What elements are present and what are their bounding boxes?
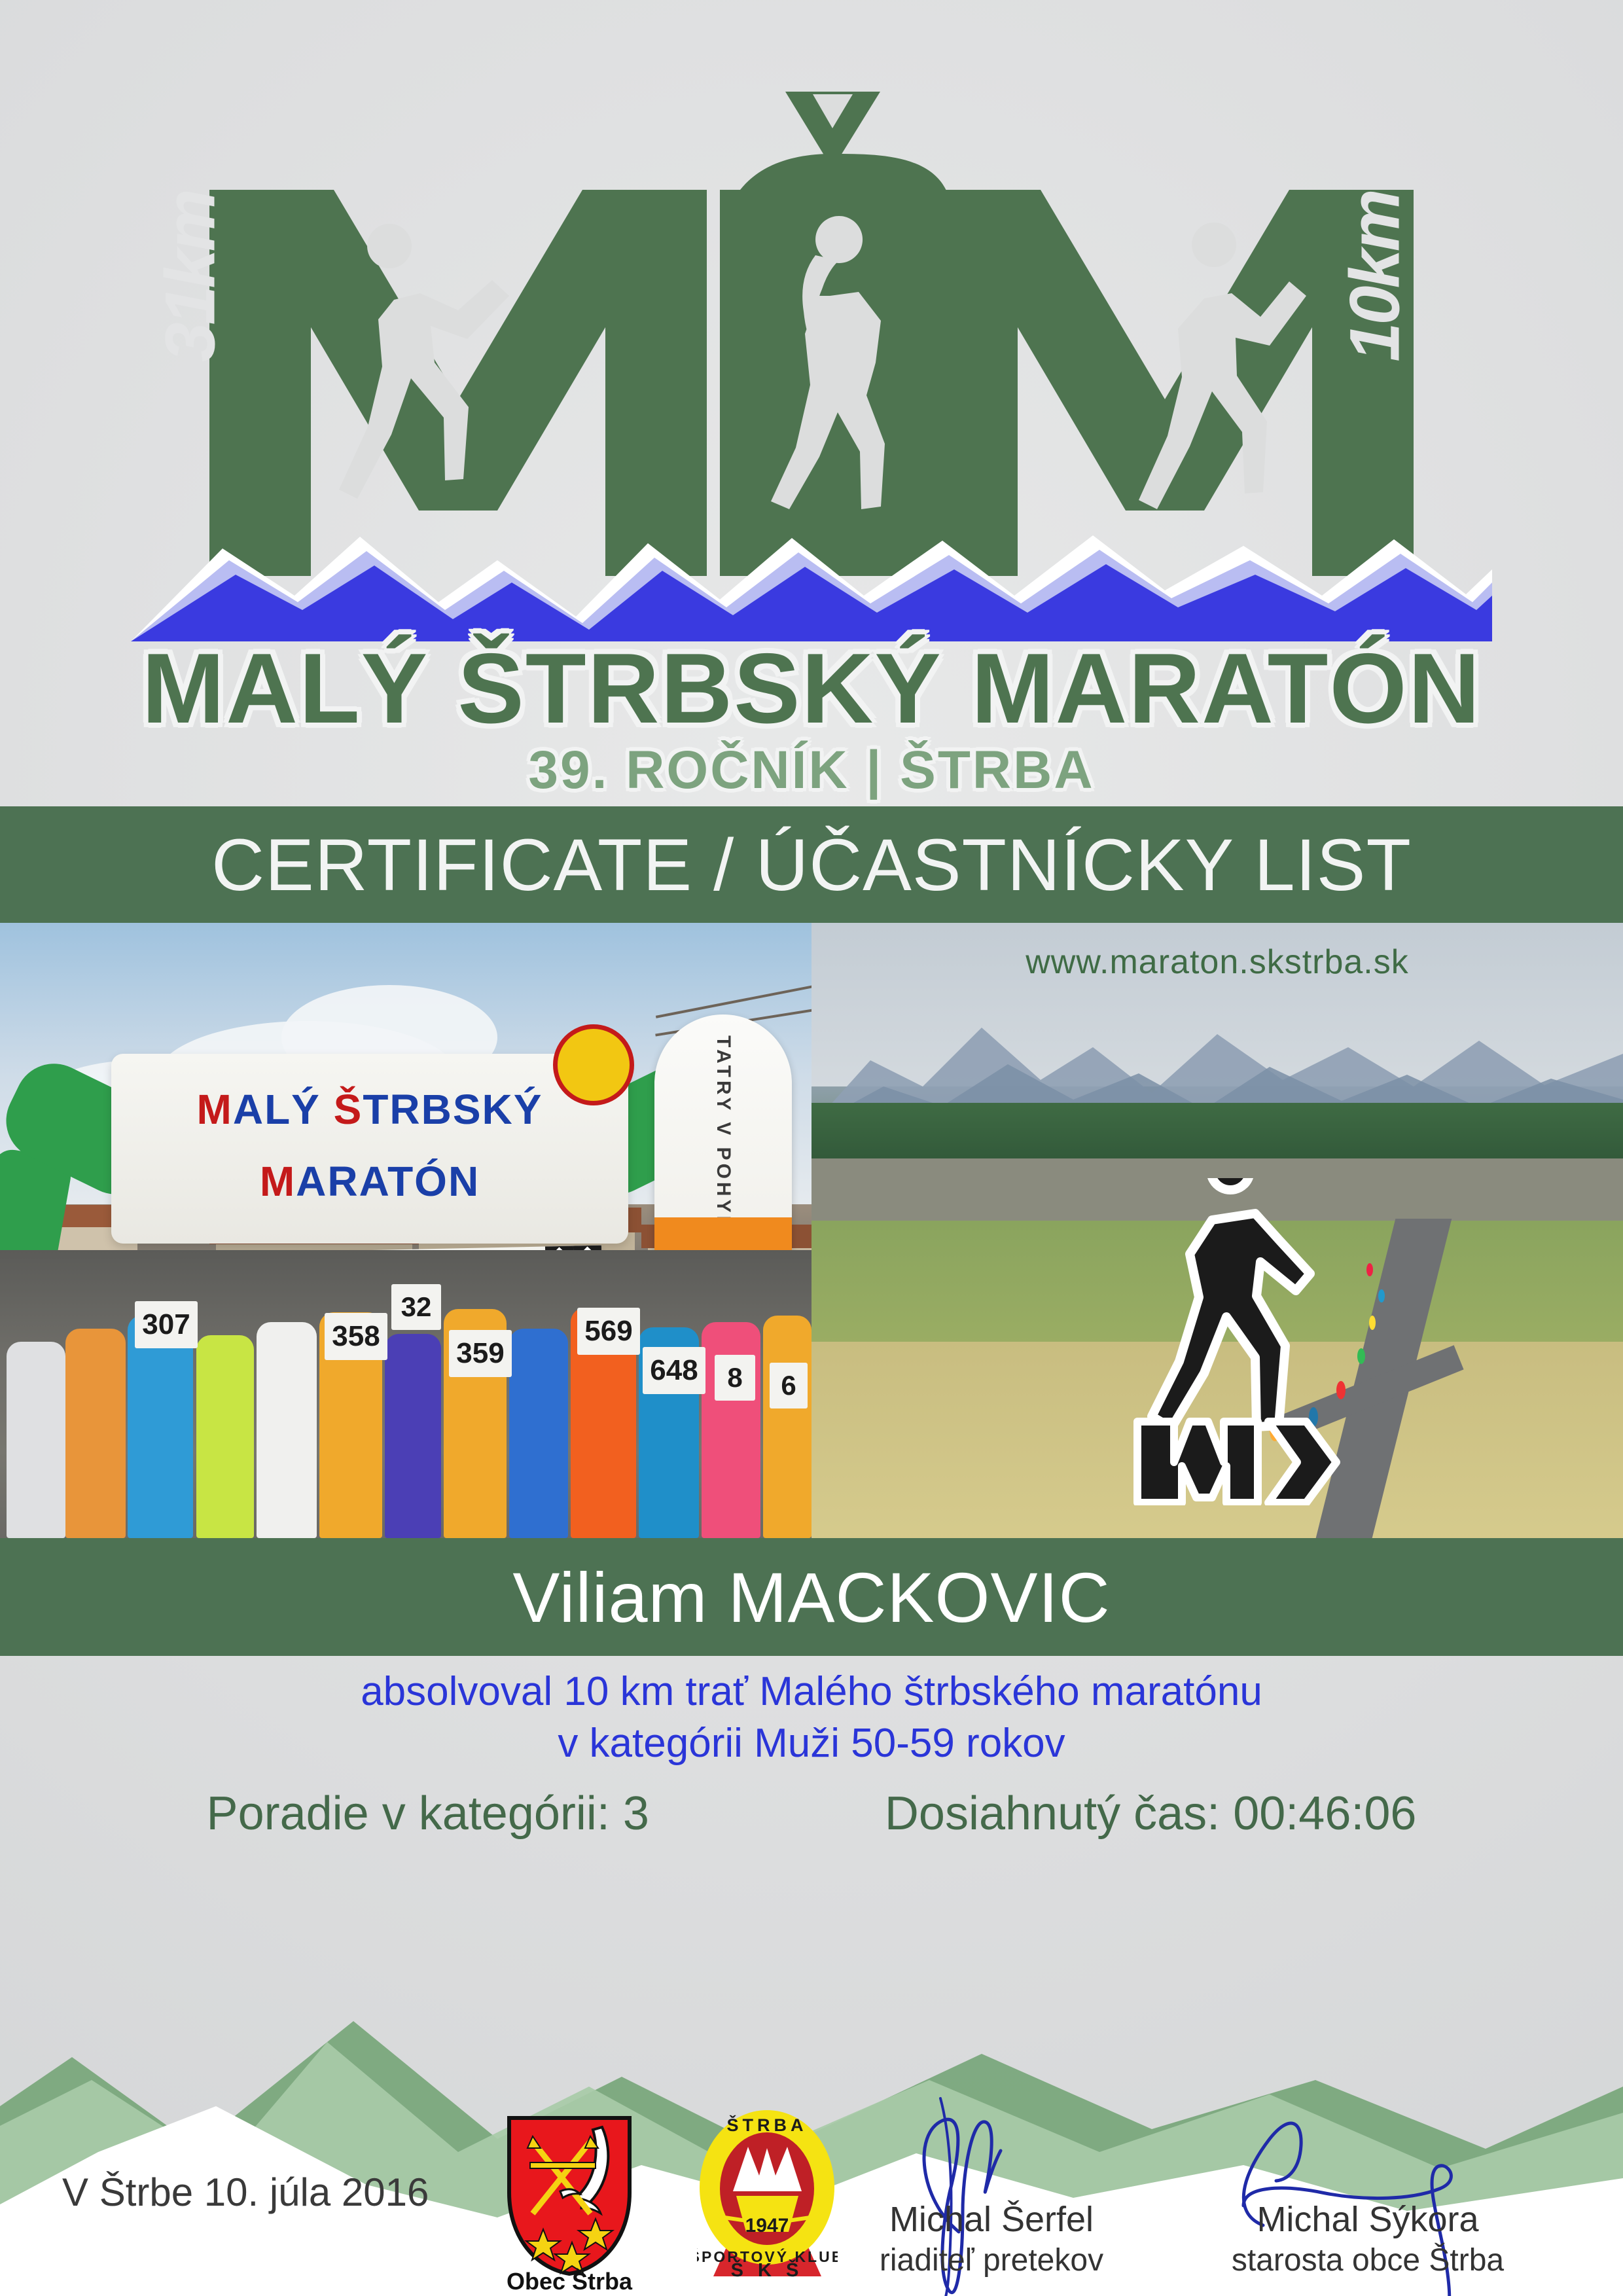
sks-club-logo-icon: 1947 ŠTRBA ŠPORTOVÝ KLUB Š K Š <box>697 2108 838 2281</box>
event-title: MALÝ ŠTRBSKÝ MARATÓN <box>131 632 1492 746</box>
category-rank: Poradie v kategórii: 3 <box>207 1787 649 1840</box>
event-logo-block: 31km 10km MALÝ ŠTRBSKÝ MARATÓN 39. ROČNÍ… <box>0 0 1623 808</box>
bib-number: 8 <box>715 1355 755 1401</box>
achievement-line-1: absolvoval 10 km trať Malého štrbského m… <box>0 1666 1623 1717</box>
runner-name: Viliam MACKOVIC <box>512 1556 1110 1638</box>
finish-time: Dosiahnutý čas: 00:46:06 <box>885 1787 1417 1840</box>
runner <box>763 1316 811 1538</box>
bib-number: 359 <box>449 1330 512 1377</box>
distance-badge-left: 31km <box>149 191 231 361</box>
issue-date: V Štrbe 10. júla 2016 <box>62 2170 429 2215</box>
photo-strip: MALÝ ŠTRBSKÝ MARATÓN ŠTART - CIEĽ TATRY … <box>0 923 1623 1538</box>
event-subtitle: 39. ROČNÍK | ŠTRBA <box>131 740 1492 801</box>
signature-role-1: riaditeľ pretekov <box>844 2242 1139 2278</box>
bib-number: 32 <box>391 1284 441 1330</box>
arch-banner: MALÝ ŠTRBSKÝ MARATÓN <box>111 1054 628 1244</box>
runner <box>65 1329 126 1538</box>
runner <box>196 1335 254 1538</box>
certificate-title-band: CERTIFICATE / ÚČASTNÍCKY LIST <box>0 806 1623 923</box>
runner <box>257 1322 317 1538</box>
certificate-title: CERTIFICATE / ÚČASTNÍCKY LIST <box>211 823 1412 907</box>
msm-logo: 31km 10km MALÝ ŠTRBSKÝ MARATÓN 39. ROČNÍ… <box>131 39 1492 812</box>
obec-strba-crest-icon <box>504 2114 635 2278</box>
certificate-footer: V Štrbe 10. júla 2016 Obec Štrba <box>0 2101 1623 2296</box>
distant-runner <box>1378 1289 1385 1302</box>
photo-race-start: MALÝ ŠTRBSKÝ MARATÓN ŠTART - CIEĽ TATRY … <box>0 923 811 1538</box>
signature-role-2: starosta obce Štrba <box>1198 2242 1538 2278</box>
crest-label: Obec Štrba <box>484 2268 654 2295</box>
club-abbr: Š K Š <box>731 2259 804 2281</box>
distant-runner <box>1357 1348 1365 1364</box>
runner <box>7 1342 65 1538</box>
bib-number: 358 <box>325 1313 387 1360</box>
website-url: www.maraton.skstrba.sk <box>811 942 1623 982</box>
distant-runner <box>1366 1263 1373 1276</box>
arch-title-line2: MARATÓN <box>111 1157 628 1206</box>
msm-runner-overlay-icon <box>1132 1178 1348 1505</box>
signature-block-2: Michal Sýkora starosta obce Štrba <box>1198 2199 1538 2278</box>
bib-number: 648 <box>643 1347 705 1394</box>
photo-race-course: www.maraton.skstrba.sk <box>811 923 1623 1538</box>
signature-block-1: Michal Šerfel riaditeľ pretekov <box>844 2199 1139 2278</box>
mountain-range-graphic <box>131 497 1492 641</box>
club-top-text: ŠTRBA <box>727 2115 808 2135</box>
achievement-line-2: v kategórii Muži 50-59 rokov <box>0 1717 1623 1769</box>
achievement-details: absolvoval 10 km trať Malého štrbského m… <box>0 1666 1623 1770</box>
bib-number: 569 <box>577 1308 640 1355</box>
club-year: 1947 <box>745 2215 789 2236</box>
runner-crowd: 307 358 359 32 569 648 8 6 <box>0 1250 811 1538</box>
runner <box>385 1334 441 1538</box>
distant-runner <box>1369 1316 1376 1330</box>
arch-title-line1: MALÝ ŠTRBSKÝ <box>111 1085 628 1134</box>
bib-number: 6 <box>770 1363 808 1408</box>
runner-name-band: Viliam MACKOVIC <box>0 1538 1623 1656</box>
runner <box>509 1329 568 1538</box>
distance-badge-right: 10km <box>1334 191 1416 361</box>
bib-number: 307 <box>135 1301 198 1348</box>
runner <box>128 1316 193 1538</box>
results-row: Poradie v kategórii: 3 Dosiahnutý čas: 0… <box>0 1787 1623 1840</box>
signature-name-1: Michal Šerfel <box>844 2199 1139 2240</box>
signature-name-2: Michal Sýkora <box>1198 2199 1538 2240</box>
certificate-page: 31km 10km MALÝ ŠTRBSKÝ MARATÓN 39. ROČNÍ… <box>0 0 1623 2296</box>
road-sign <box>553 1024 634 1105</box>
flag-text: TATRY V POHYBE <box>712 1035 734 1173</box>
